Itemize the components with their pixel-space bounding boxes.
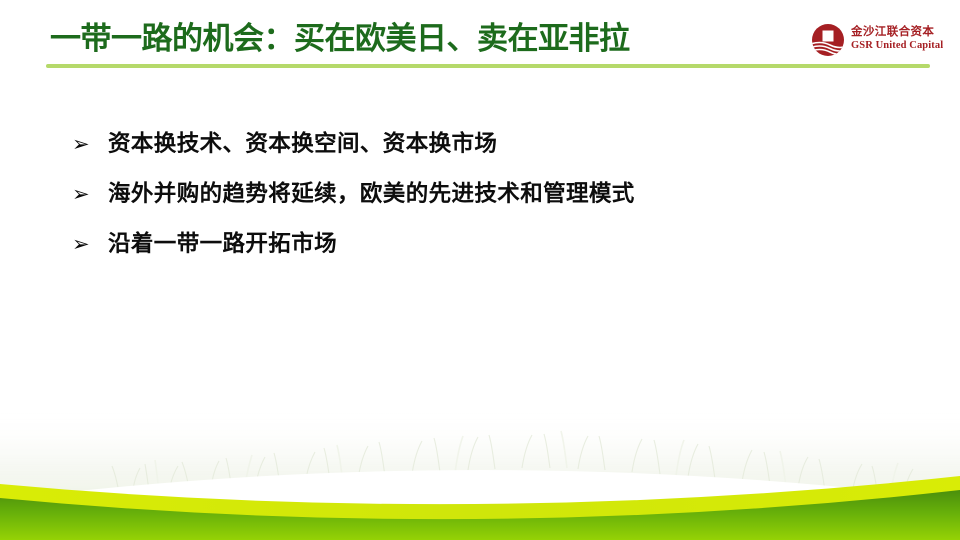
arrow-bullet-icon: ➢	[70, 178, 108, 210]
decorative-grass-hill	[0, 380, 960, 540]
list-item-label: 海外并购的趋势将延续，欧美的先进技术和管理模式	[108, 178, 635, 210]
sun-over-water-circle-icon	[810, 22, 846, 58]
logo-name-en: GSR United Capital	[851, 39, 955, 53]
list-item-label: 资本换技术、资本换空间、资本换市场	[108, 128, 497, 160]
slide-canvas: 一带一路的机会：买在欧美日、卖在亚非拉 金沙江联合资本 GSR United C…	[0, 0, 960, 540]
bullet-list: ➢ 资本换技术、资本换空间、资本换市场 ➢ 海外并购的趋势将延续，欧美的先进技术…	[70, 128, 890, 278]
company-logo: 金沙江联合资本 GSR United Capital	[810, 20, 955, 60]
page-title: 一带一路的机会：买在欧美日、卖在亚非拉	[50, 21, 630, 57]
list-item: ➢ 海外并购的趋势将延续，欧美的先进技术和管理模式	[70, 178, 890, 210]
arrow-bullet-icon: ➢	[70, 228, 108, 260]
list-item: ➢ 沿着一带一路开拓市场	[70, 228, 890, 260]
logo-text: 金沙江联合资本 GSR United Capital	[851, 24, 955, 53]
arrow-bullet-icon: ➢	[70, 128, 108, 160]
list-item-label: 沿着一带一路开拓市场	[108, 228, 337, 260]
list-item: ➢ 资本换技术、资本换空间、资本换市场	[70, 128, 890, 160]
title-underline-rule	[46, 64, 930, 68]
logo-name-cn: 金沙江联合资本	[851, 24, 955, 39]
